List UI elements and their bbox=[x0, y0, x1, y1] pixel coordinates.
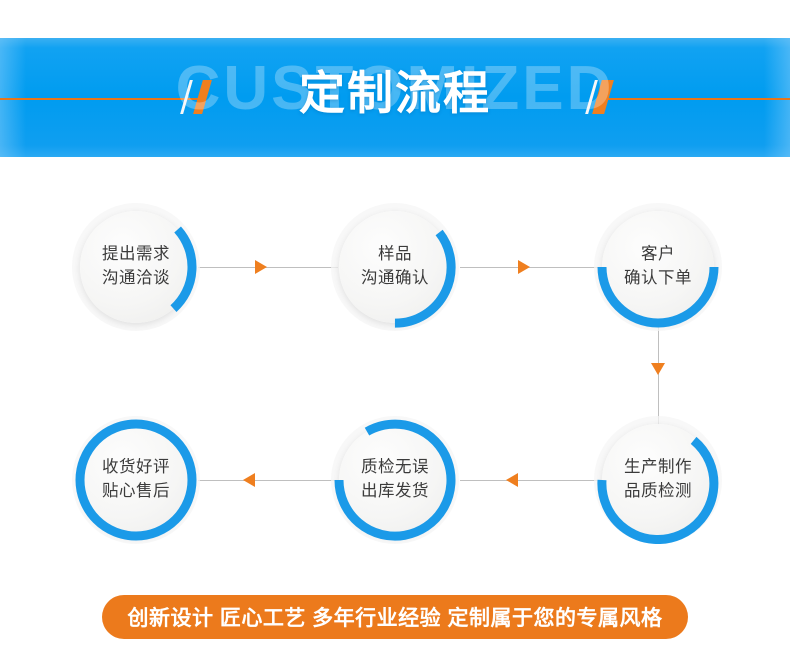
arrow-left-icon-1 bbox=[506, 473, 518, 487]
flow-step-3-line1: 客户 bbox=[641, 243, 675, 267]
flow-step-5-line1: 质检无误 bbox=[361, 456, 429, 480]
connector-step4-step5 bbox=[460, 480, 602, 481]
connector-step2-step3 bbox=[460, 267, 602, 268]
process-flow-diagram: 提出需求 沟通洽谈 样品 沟通确认 客户 确认下单 生产制作 品 bbox=[0, 157, 790, 577]
arrow-right-icon-2 bbox=[518, 260, 530, 274]
arrow-left-icon-2 bbox=[243, 473, 255, 487]
flow-step-1-label: 提出需求 沟通洽谈 bbox=[72, 203, 200, 331]
connector-step5-step6 bbox=[198, 480, 340, 481]
flow-step-3-line2: 确认下单 bbox=[624, 267, 692, 291]
flow-step-2-label: 样品 沟通确认 bbox=[331, 203, 459, 331]
footer-tagline-banner: 创新设计 匠心工艺 多年行业经验 定制属于您的专属风格 bbox=[102, 595, 688, 639]
flow-step-6-line2: 贴心售后 bbox=[102, 480, 170, 504]
flow-step-2-line2: 沟通确认 bbox=[361, 267, 429, 291]
footer-tagline-text: 创新设计 匠心工艺 多年行业经验 定制属于您的专属风格 bbox=[127, 602, 662, 632]
flow-step-1-line2: 沟通洽谈 bbox=[102, 267, 170, 291]
flow-step-6-line1: 收货好评 bbox=[102, 456, 170, 480]
flow-step-5-label: 质检无误 出库发货 bbox=[331, 416, 459, 544]
arrow-down-icon-1 bbox=[651, 363, 665, 375]
page-title: 定制流程 bbox=[0, 68, 790, 119]
flow-step-5-line2: 出库发货 bbox=[361, 480, 429, 504]
flow-step-5[interactable]: 质检无误 出库发货 bbox=[331, 416, 459, 544]
header-banner: CUSTOMIZED 定制流程 bbox=[0, 38, 790, 157]
flow-step-4-label: 生产制作 品质检测 bbox=[594, 416, 722, 544]
flow-step-4[interactable]: 生产制作 品质检测 bbox=[594, 416, 722, 544]
flow-step-6[interactable]: 收货好评 贴心售后 bbox=[72, 416, 200, 544]
flow-step-3[interactable]: 客户 确认下单 bbox=[594, 203, 722, 331]
arrow-right-icon-1 bbox=[255, 260, 267, 274]
connector-step1-step2 bbox=[198, 267, 338, 268]
flow-step-2-line1: 样品 bbox=[378, 243, 412, 267]
flow-step-3-label: 客户 确认下单 bbox=[594, 203, 722, 331]
flow-step-4-line2: 品质检测 bbox=[624, 480, 692, 504]
flow-step-1[interactable]: 提出需求 沟通洽谈 bbox=[72, 203, 200, 331]
flow-step-2[interactable]: 样品 沟通确认 bbox=[331, 203, 459, 331]
flow-step-4-line1: 生产制作 bbox=[624, 456, 692, 480]
flow-step-6-label: 收货好评 贴心售后 bbox=[72, 416, 200, 544]
flow-step-1-line1: 提出需求 bbox=[102, 243, 170, 267]
